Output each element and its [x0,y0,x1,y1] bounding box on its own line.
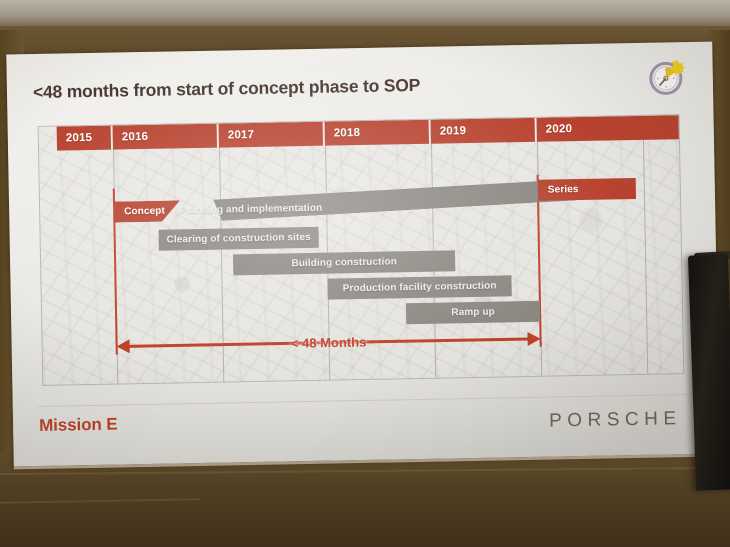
projection-screen: <48 months from start of concept phase t… [6,42,719,467]
bar-production-facility-construction[interactable]: Production facility construction [327,275,511,299]
footer-divider [39,394,693,407]
gantt-chart: 2015 2016 2017 2018 2019 2020 Concept Pl… [38,114,685,386]
bar-label-series: Series [538,184,589,196]
bar-series[interactable]: Series [538,178,636,201]
bar-clearing-of-construction-sites[interactable]: Clearing of construction sites [159,227,319,251]
bar-ramp-up[interactable]: Ramp up [406,301,540,324]
bar-building-construction[interactable]: Building construction [233,250,455,275]
bar-label-clearing-of-construction-sites: Clearing of construction sites [167,232,311,246]
foreground-speaker-object [688,254,730,490]
porsche-wordmark: PORSCHE [549,408,682,432]
presentation-slide: <48 months from start of concept phase t… [6,42,719,467]
bar-label-ramp-up: Ramp up [451,307,495,319]
bar-label-planning-and-implementation: Planning and implementation [180,203,322,217]
stopwatch-icon [644,54,691,101]
bar-label-building-construction: Building construction [291,256,397,269]
bar-label-production-facility-construction: Production facility construction [343,281,497,295]
page-title: <48 months from start of concept phase t… [33,72,593,103]
duration-arrow-label: < 48 Months [284,334,374,351]
footer-brand-mission-e: Mission E [39,415,118,436]
